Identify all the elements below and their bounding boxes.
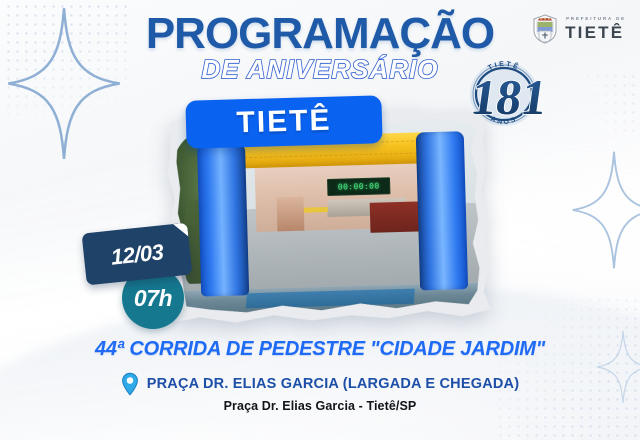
poster-canvas: PROGRAMAÇÃO DE ANIVERSÁRIO PREFEITURA DE… [0,0,640,440]
race-clock-digits: 00:00:00 [338,181,380,191]
photo-race-clock: 00:00:00 [327,177,390,196]
venue-row: PRAÇA DR. ELIAS GARCIA (LARGADA E CHEGAD… [0,372,640,396]
dot-grid-bottom-right [496,296,640,440]
poster-header: PROGRAMAÇÃO DE ANIVERSÁRIO PREFEITURA DE… [0,0,640,100]
venue-secondary-label: Praça Dr. Elias Garcia - Tietê/SP [0,399,640,413]
photo-arch-pillar-right [416,131,468,290]
location-pin-icon [121,372,139,396]
prefeitura-name: TIETÊ [565,24,624,41]
prefeitura-kicker: PREFEITURA DE [566,17,626,21]
event-date-label: 12/03 [110,239,165,270]
venue-primary-label: PRAÇA DR. ELIAS GARCIA (LARGADA E CHEGAD… [147,376,520,392]
event-date-badge: 12/03 [82,223,193,286]
event-time-label: 07h [134,285,172,312]
event-title: 44ª CORRIDA DE PEDESTRE "CIDADE JARDIM" [0,338,640,361]
coat-of-arms-icon [532,14,558,44]
tiete-banner-label: TIETÊ [236,104,332,141]
sparkle-star-icon-right [571,150,640,270]
tiete-banner-plate: TIETÊ [185,95,382,148]
prefeitura-logo: PREFEITURA DE TIETÊ [532,14,626,44]
photo-arch-pillar-left [197,143,249,296]
